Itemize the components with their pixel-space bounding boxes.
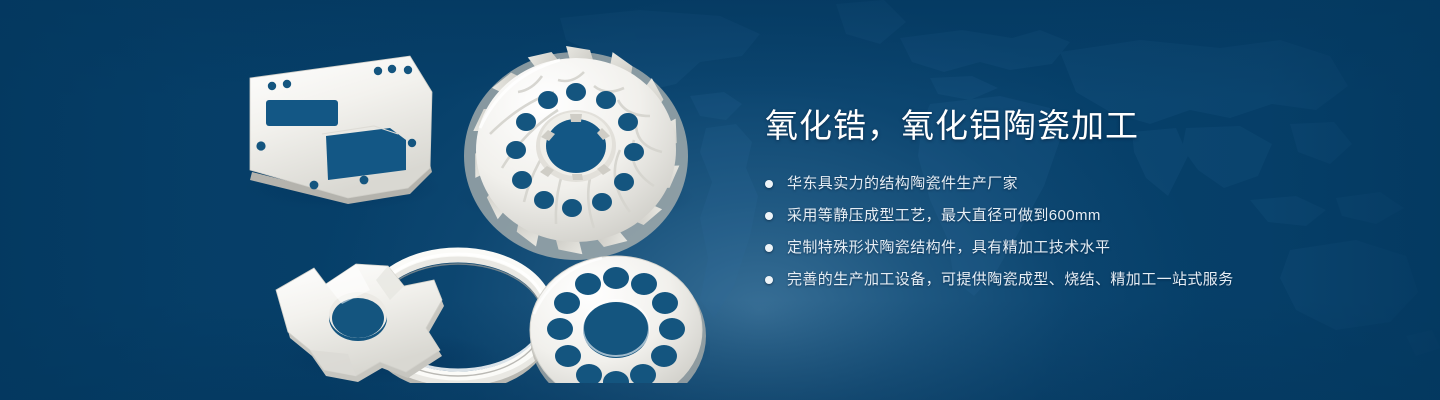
bullet-dot-icon [765,180,773,188]
list-item: 完善的生产加工设备，可提供陶瓷成型、烧结、精加工一站式服务 [765,270,1385,290]
ceramic-machined-plate [250,56,432,204]
feature-list: 华东具实力的结构陶瓷件生产厂家 采用等静压成型工艺，最大直径可做到600mm 定… [765,174,1385,290]
feature-text: 完善的生产加工设备，可提供陶瓷成型、烧结、精加工一站式服务 [787,270,1234,290]
feature-text: 定制特殊形状陶瓷结构件，具有精加工技术水平 [787,238,1110,258]
feature-text: 华东具实力的结构陶瓷件生产厂家 [787,174,1018,194]
ceramic-impeller-disc [464,44,688,260]
ceramic-perforated-disc [530,256,706,383]
bullet-dot-icon [765,212,773,220]
bullet-dot-icon [765,244,773,252]
page-title: 氧化锆，氧化铝陶瓷加工 [765,106,1385,146]
ceramic-products-photo [230,38,710,383]
hero-banner: 氧化锆，氧化铝陶瓷加工 华东具实力的结构陶瓷件生产厂家 采用等静压成型工艺，最大… [0,0,1440,400]
list-item: 采用等静压成型工艺，最大直径可做到600mm [765,206,1385,226]
list-item: 华东具实力的结构陶瓷件生产厂家 [765,174,1385,194]
feature-text: 采用等静压成型工艺，最大直径可做到600mm [787,206,1101,226]
list-item: 定制特殊形状陶瓷结构件，具有精加工技术水平 [765,238,1385,258]
bullet-dot-icon [765,276,773,284]
banner-copy: 氧化锆，氧化铝陶瓷加工 华东具实力的结构陶瓷件生产厂家 采用等静压成型工艺，最大… [765,106,1385,290]
